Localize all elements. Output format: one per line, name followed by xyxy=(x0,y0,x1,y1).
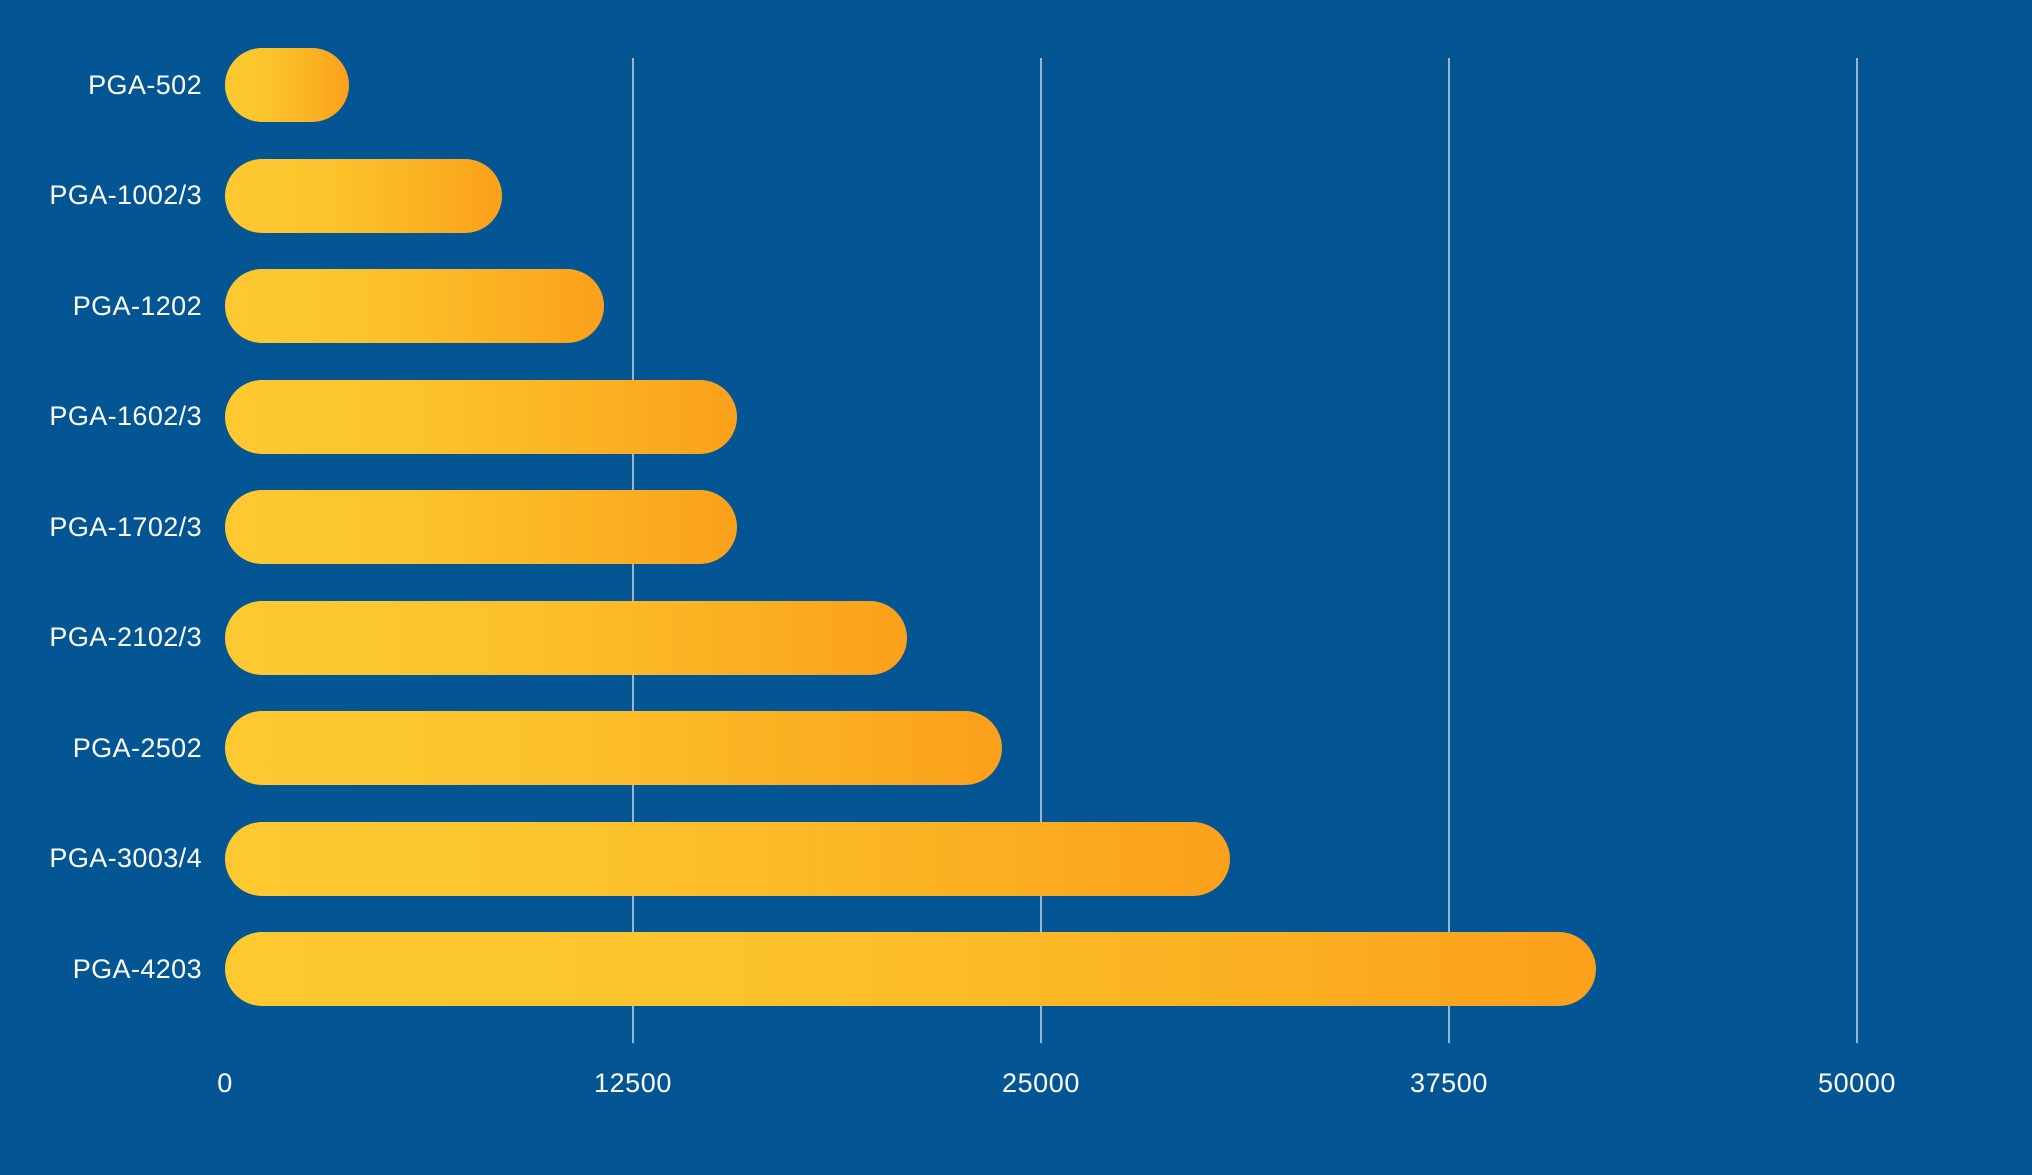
bar-row[interactable]: PGA-1202 xyxy=(0,269,2032,343)
x-axis-tick-label: 37500 xyxy=(1410,1068,1488,1099)
bar-row[interactable]: PGA-1002/3 xyxy=(0,159,2032,233)
bar[interactable] xyxy=(225,269,604,343)
category-label: PGA-1702/3 xyxy=(0,512,202,543)
bar[interactable] xyxy=(225,48,349,122)
bar-row[interactable]: PGA-502 xyxy=(0,48,2032,122)
category-label: PGA-502 xyxy=(0,70,202,101)
category-label: PGA-2102/3 xyxy=(0,622,202,653)
category-label: PGA-4203 xyxy=(0,954,202,985)
bar-row[interactable]: PGA-3003/4 xyxy=(0,822,2032,896)
category-label: PGA-3003/4 xyxy=(0,843,202,874)
plot-area: PGA-502PGA-1002/3PGA-1202PGA-1602/3PGA-1… xyxy=(0,0,2032,1175)
bar-row[interactable]: PGA-2102/3 xyxy=(0,601,2032,675)
bar-row[interactable]: PGA-1702/3 xyxy=(0,490,2032,564)
bar[interactable] xyxy=(225,822,1230,896)
category-label: PGA-1202 xyxy=(0,291,202,322)
x-axis-tick-label: 50000 xyxy=(1818,1068,1896,1099)
bar-row[interactable]: PGA-1602/3 xyxy=(0,380,2032,454)
bar[interactable] xyxy=(225,601,907,675)
category-label: PGA-1002/3 xyxy=(0,180,202,211)
bar[interactable] xyxy=(225,380,737,454)
bar-row[interactable]: PGA-4203 xyxy=(0,932,2032,1006)
category-label: PGA-2502 xyxy=(0,733,202,764)
x-axis-tick-label: 12500 xyxy=(594,1068,672,1099)
bar-row[interactable]: PGA-2502 xyxy=(0,711,2032,785)
bar-chart: PGA-502PGA-1002/3PGA-1202PGA-1602/3PGA-1… xyxy=(0,0,2032,1175)
bar[interactable] xyxy=(225,932,1596,1006)
x-axis-tick-label: 0 xyxy=(217,1068,233,1099)
category-label: PGA-1602/3 xyxy=(0,401,202,432)
bar[interactable] xyxy=(225,159,502,233)
x-axis-tick-label: 25000 xyxy=(1002,1068,1080,1099)
bar[interactable] xyxy=(225,490,737,564)
bar[interactable] xyxy=(225,711,1002,785)
